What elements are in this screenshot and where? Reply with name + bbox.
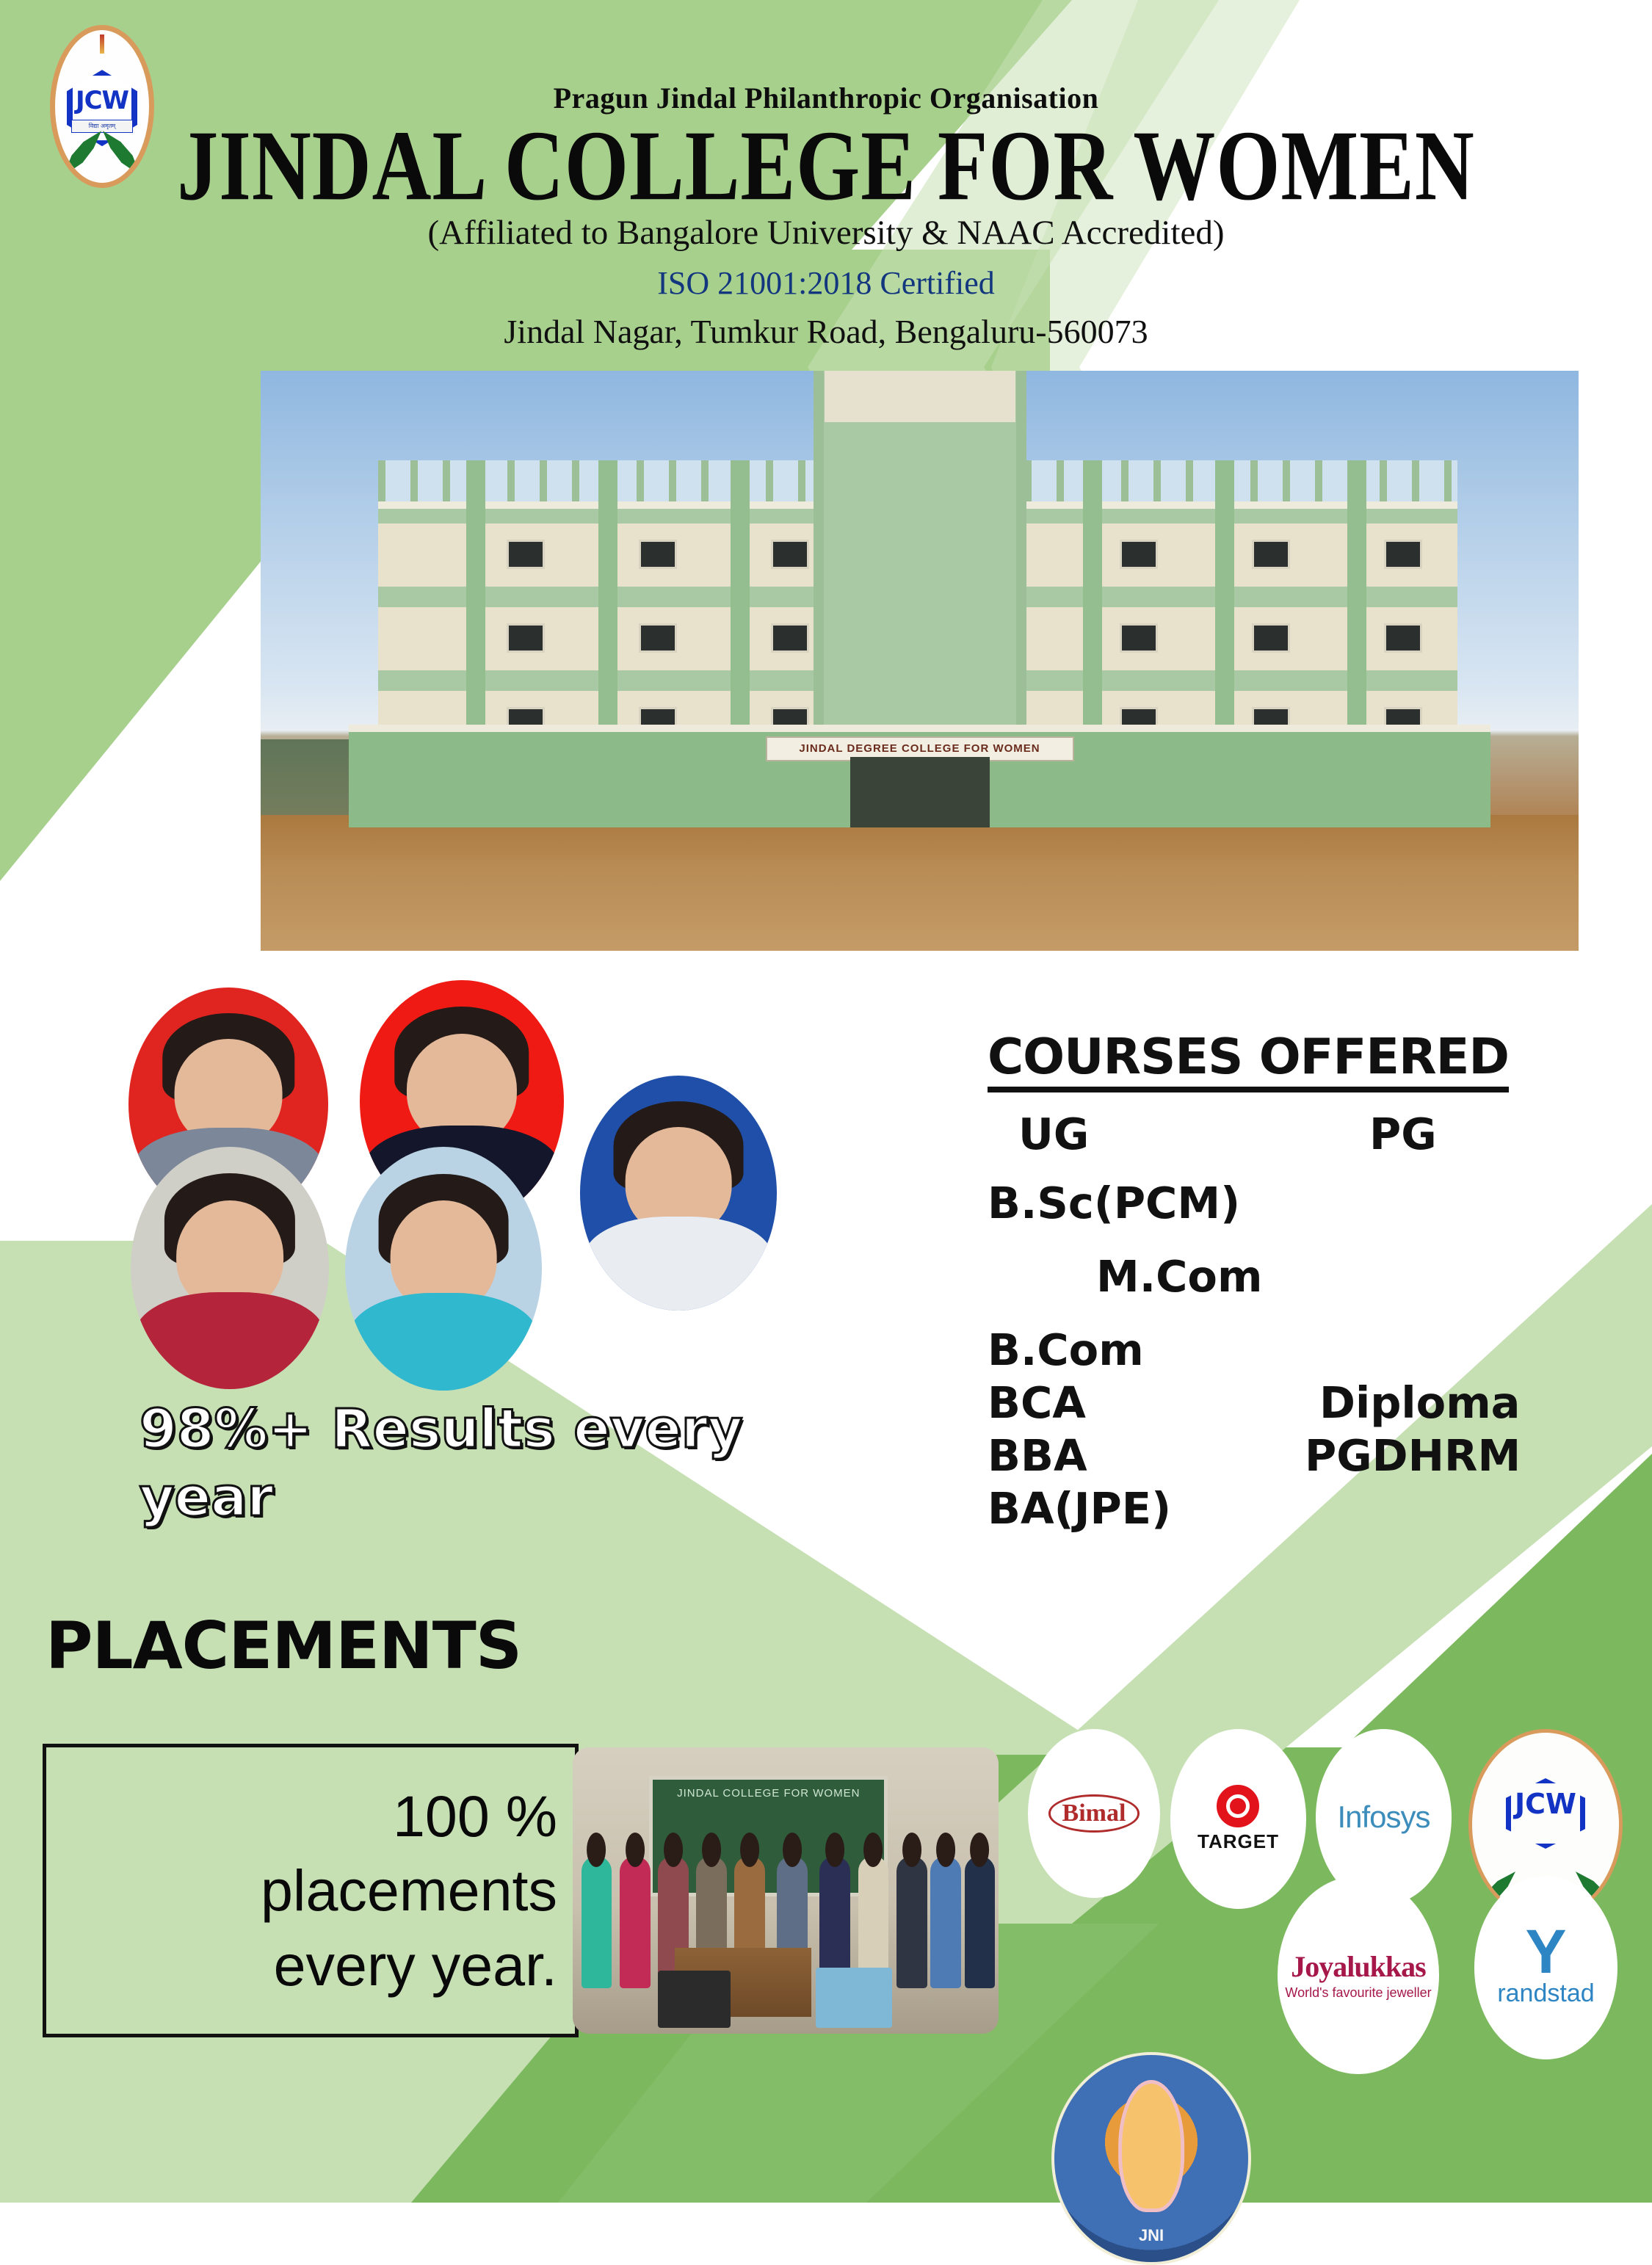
poster-header: JCW विद्या अमृतम् Pragun Jindal Philanth…	[0, 0, 1652, 374]
window	[1120, 540, 1158, 569]
window	[639, 623, 677, 653]
courses-columns: UG PG B.Sc(PCM) B.Com BCA BBA BA(JPE) M.…	[988, 1104, 1597, 1537]
student-photo-5	[345, 1147, 542, 1391]
course-ug-1: B.Com	[988, 1324, 1144, 1375]
window	[1120, 623, 1158, 653]
recruiter-bimal-logo: Bimal	[1028, 1729, 1160, 1898]
recruiter-logos: Bimal TARGET Infosys JCW JNI Joyalukkas	[1028, 1729, 1637, 2037]
window	[507, 540, 545, 569]
recruiter-target-logo: TARGET	[1170, 1729, 1306, 1909]
torch-icon	[100, 35, 104, 54]
recruiter-target-label: TARGET	[1198, 1830, 1279, 1853]
student-photo-3	[580, 1076, 777, 1311]
chair	[658, 1971, 731, 2028]
recruiter-infosys-label: Infosys	[1337, 1800, 1430, 1835]
recruiter-jni-logo: JNI	[1051, 2052, 1251, 2265]
courses-ug-header: UG	[1018, 1109, 1089, 1159]
course-ug-3: BBA	[988, 1430, 1087, 1481]
recruiter-randstad-label: randstad	[1497, 1979, 1594, 2008]
recruiter-randstad-logo: Υ randstad	[1474, 1876, 1617, 2059]
student-photo-4	[131, 1147, 329, 1389]
placement-line-1: 100 %	[261, 1779, 557, 1853]
outfit	[349, 1293, 537, 1391]
course-pg-1: Diploma	[1319, 1377, 1520, 1428]
placement-stat-box: 100 % placements every year.	[43, 1744, 579, 2037]
iso-certification-line: ISO 21001:2018 Certified	[0, 264, 1652, 302]
building-tower-top	[825, 371, 1015, 422]
placement-stat-text: 100 % placements every year.	[261, 1779, 557, 2001]
course-pg-0: M.Com	[1096, 1251, 1262, 1302]
recruiter-joyalukkas-label: Joyalukkas	[1291, 1949, 1425, 1984]
window	[1384, 540, 1422, 569]
window	[507, 623, 545, 653]
window	[1252, 540, 1290, 569]
course-pg-2: PGDHRM	[1305, 1430, 1521, 1481]
building-entrance	[850, 757, 990, 827]
randstad-mark-icon: Υ	[1525, 1927, 1566, 1976]
window	[771, 540, 809, 569]
window	[1252, 623, 1290, 653]
page-title: JINDAL COLLEGE FOR WOMEN	[0, 109, 1652, 224]
window	[639, 540, 677, 569]
recruiter-bimal-label: Bimal	[1048, 1794, 1140, 1832]
outfit	[584, 1217, 772, 1311]
recruiter-joyalukkas-logo: Joyalukkas World's favourite jeweller	[1278, 1876, 1439, 2074]
address-line: Jindal Nagar, Tumkur Road, Bengaluru-560…	[0, 312, 1652, 351]
jni-flame-icon	[1118, 2080, 1184, 2212]
courses-pg-header: PG	[1369, 1109, 1437, 1159]
target-bullseye-icon	[1217, 1785, 1259, 1827]
course-ug-0: B.Sc(PCM)	[988, 1178, 1240, 1228]
recruiter-jcw-label: JCW	[1472, 1788, 1619, 1820]
outfit	[134, 1292, 325, 1389]
placement-line-3: every year.	[261, 1928, 557, 2002]
placements-heading: PLACEMENTS	[46, 1608, 521, 1684]
ground-area	[261, 815, 1579, 951]
course-ug-2: BCA	[988, 1377, 1086, 1428]
courses-section: COURSES OFFERED UG PG B.Sc(PCM) B.Com BC…	[988, 1028, 1597, 1537]
courses-title: COURSES OFFERED	[988, 1028, 1509, 1092]
window	[1384, 623, 1422, 653]
chair	[816, 1968, 892, 2028]
recruiter-joyalukkas-tagline: World's favourite jeweller	[1285, 1985, 1431, 2001]
results-statement: 98%+ Results every year	[140, 1395, 800, 1532]
placement-line-2: placements	[261, 1853, 557, 1927]
affiliation-line: (Affiliated to Bangalore University & NA…	[0, 213, 1652, 253]
placement-drive-photo: JINDAL COLLEGE FOR WOMEN	[573, 1747, 999, 2034]
recruiter-jni-label: JNI	[1054, 2226, 1248, 2245]
campus-building-photo: JINDAL DEGREE COLLEGE FOR WOMEN ಜಿಂದಾಲ್ …	[261, 371, 1579, 951]
course-ug-4: BA(JPE)	[988, 1483, 1171, 1534]
window	[771, 623, 809, 653]
